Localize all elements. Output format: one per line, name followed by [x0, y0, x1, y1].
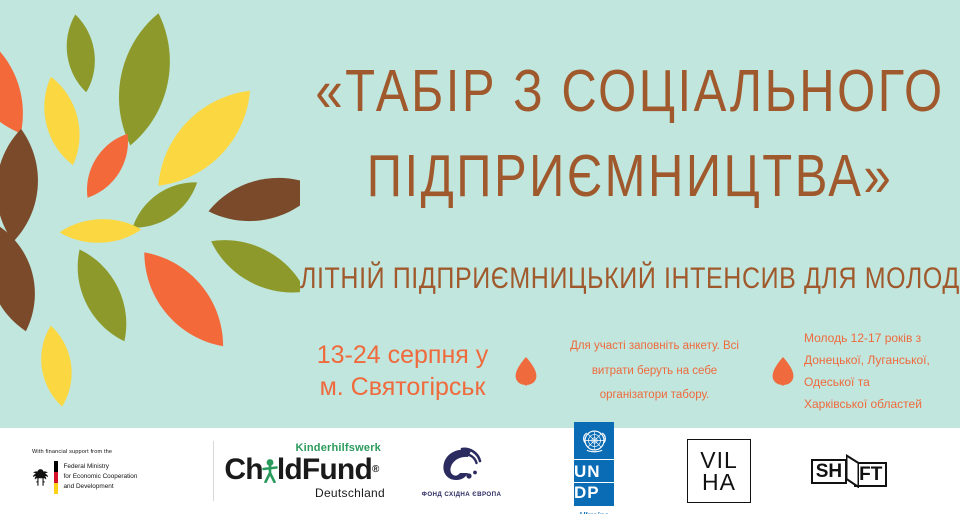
participation-note-block: Для участі заповніть анкету. Всі витрати… [547, 334, 762, 408]
shift-part-1: SH [811, 459, 847, 484]
child-figure-icon [262, 457, 278, 483]
leaf-shape [125, 172, 204, 238]
leaf-shape [35, 73, 88, 169]
shift-wedge-icon [846, 454, 857, 488]
german-flag-icon [54, 461, 58, 494]
date-place-line-2: м. Святогірськ [300, 371, 505, 403]
leaf-shape [0, 219, 46, 336]
undp-mark: UN DP [574, 422, 614, 505]
sponsor-logo-bar: With financial support from the Federal … [0, 428, 960, 514]
leaf-cluster-decoration [0, 0, 300, 430]
childfund-word-part-2: ldFund [277, 454, 372, 486]
headline-block: «Табір з соціального підприємництва» [300, 62, 960, 196]
poster-subtitle: Літній підприємницький інтенсив для моло… [300, 262, 960, 296]
german-eagle-icon [32, 467, 49, 487]
leaf-shape [107, 8, 181, 150]
shift-wordmark: SH FT [811, 454, 888, 488]
poster-title-line-1: «Табір з соціального [300, 62, 960, 122]
registered-mark-icon: ® [372, 465, 379, 476]
audience-line-4: Харківської областей [804, 393, 956, 415]
eef-swoosh-icon [438, 445, 486, 487]
date-place-block: 13-24 серпня у м. Святогірськ [300, 339, 505, 403]
bmz-lockup: Federal Ministry for Economic Cooperatio… [32, 461, 137, 494]
leaf-shape [0, 127, 42, 243]
participation-note-line-1: Для участі заповніть анкету. Всі [547, 334, 762, 359]
bmz-ministry-name: Federal Ministry for Economic Cooperatio… [64, 462, 138, 492]
leaf-shape [76, 127, 139, 205]
logo-east-europe-foundation: Фонд Східна Європа [389, 445, 534, 498]
leaf-icon [772, 356, 794, 386]
poster-canvas: «Табір з соціального підприємництва» Літ… [0, 0, 960, 514]
undp-line-2: DP [574, 483, 614, 503]
date-place-line-1: 13-24 серпня у [300, 339, 505, 371]
audience-line-3: Одеської та [804, 371, 956, 393]
undp-letters: UN DP [574, 459, 614, 505]
vilha-line-1: VIL [700, 449, 738, 471]
vilha-line-2: HA [702, 471, 736, 493]
leaf-divider-2 [762, 356, 804, 386]
audience-line-1: Молодь 12-17 років з [804, 327, 956, 349]
childfund-wordmark: Ch ldFund ® [224, 454, 378, 486]
childfund-word-part-1: Ch [224, 454, 262, 486]
info-row: 13-24 серпня у м. Святогірськ Для участі… [300, 322, 960, 420]
vilha-square-icon: VIL HA [687, 439, 751, 503]
leaf-icon [515, 356, 537, 386]
audience-block: Молодь 12-17 років з Донецької, Луганськ… [804, 327, 956, 416]
logo-bmz: With financial support from the Federal … [18, 449, 213, 494]
logo-vilha: VIL HA [654, 439, 784, 503]
leaf-shape [203, 226, 300, 307]
undp-line-1: UN [574, 462, 614, 483]
childfund-country: Deutschland [315, 486, 385, 500]
bmz-line-3: and Development [64, 482, 138, 492]
bmz-line-2: for Economic Cooperation [64, 472, 138, 482]
leaf-shape [204, 168, 300, 231]
logo-childfund: Kinderhilfswerk Ch ldFund ® Deutschland [214, 442, 389, 500]
audience-line-2: Донецької, Луганської, [804, 349, 956, 371]
eef-name: Фонд Східна Європа [422, 491, 502, 498]
leaf-shape [0, 15, 41, 144]
leaf-shape [141, 74, 267, 202]
leaf-shape [36, 324, 77, 409]
leaf-shape [127, 238, 240, 361]
un-emblem-icon [574, 422, 614, 459]
leaf-shape [59, 218, 141, 244]
leaf-shape [64, 242, 141, 349]
bmz-line-1: Federal Ministry [64, 462, 138, 472]
bmz-caption: With financial support from the [32, 449, 112, 455]
leaf-divider-1 [505, 356, 547, 386]
logo-shift: SH FT [784, 454, 914, 488]
leaf-shape [62, 13, 100, 95]
participation-note-line-3: організатори табору. [547, 383, 762, 408]
participation-note-line-2: витрати беруть на себе [547, 359, 762, 384]
logo-undp: UN DP Ukraine [534, 422, 654, 514]
poster-title-line-2: підприємництва» [300, 147, 960, 207]
